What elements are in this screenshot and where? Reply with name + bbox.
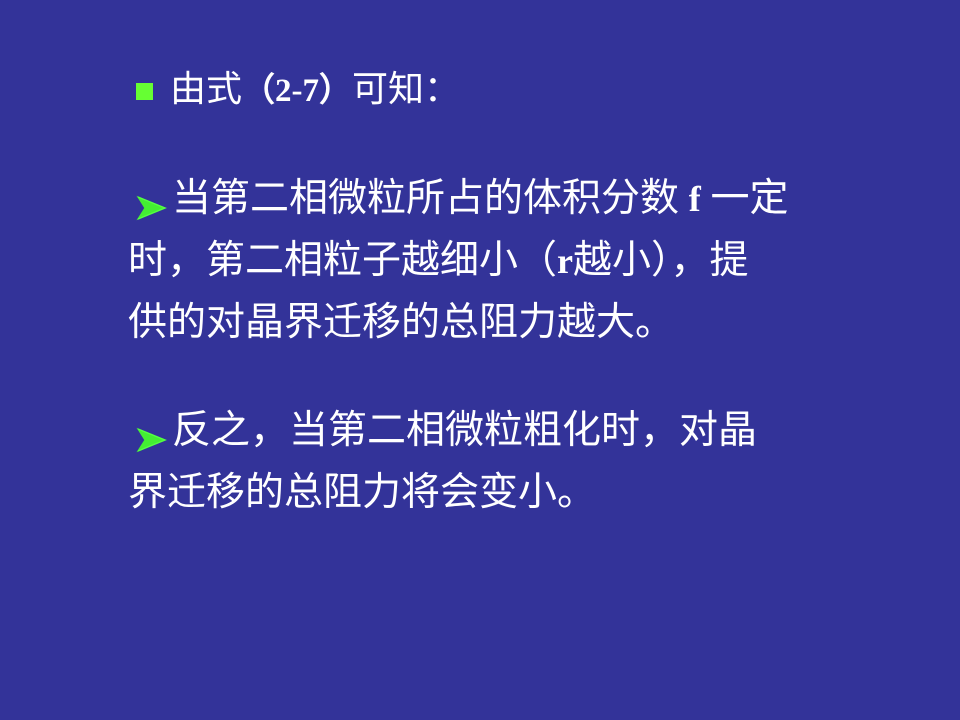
p1-l3-pre: 供的对晶界迁移的总阻力越大。 <box>128 301 674 344</box>
paragraph-2-line-1: 反之，当第二相微粒粗化时，对晶 <box>172 400 918 462</box>
heading-formula-ref: （2-7） <box>242 73 352 109</box>
paragraph-1-text: 当第二相微粒所占的体积分数 f 一定 时，第二相粒子越细小（r越小），提 供的对… <box>128 168 918 354</box>
p1-l2-pre: 时，第二相粒子越细小（ <box>128 239 557 282</box>
p1-l1-latin: f <box>689 179 701 219</box>
bullet-paragraph-1: 当第二相微粒所占的体积分数 f 一定 时，第二相粒子越细小（r越小），提 供的对… <box>128 168 918 354</box>
p1-l1-pre: 当第二相微粒所占的体积分数 <box>172 177 689 220</box>
slide-canvas: 由式（2-7）可知： 当第二相微粒所占的体积分数 f 一定 时，第二相粒子越细小… <box>0 0 960 720</box>
paragraph-1-line-2: 时，第二相粒子越细小（r越小），提 <box>128 230 918 292</box>
slide-content-body: 由式（2-7）可知： 当第二相微粒所占的体积分数 f 一定 时，第二相粒子越细小… <box>128 66 918 524</box>
p1-l1-post: 一定 <box>701 177 789 220</box>
green-square-bullet-icon <box>136 83 153 100</box>
paragraph-1-line-1: 当第二相微粒所占的体积分数 f 一定 <box>172 168 918 230</box>
heading-suffix: 可知： <box>352 69 460 109</box>
p1-l2-latin: r <box>557 241 573 281</box>
p2-l2-pre: 界迁移的总阻力将会变小。 <box>128 471 596 514</box>
heading-line: 由式（2-7）可知： <box>128 66 918 114</box>
paragraph-1-line-3: 供的对晶界迁移的总阻力越大。 <box>128 292 918 354</box>
paragraph-2-line-2: 界迁移的总阻力将会变小。 <box>128 462 918 524</box>
heading-prefix: 由式 <box>170 69 242 109</box>
bullet-paragraph-2: 反之，当第二相微粒粗化时，对晶 界迁移的总阻力将会变小。 <box>128 400 918 524</box>
paragraph-2-text: 反之，当第二相微粒粗化时，对晶 界迁移的总阻力将会变小。 <box>128 400 918 524</box>
p1-l2-post: 越小），提 <box>573 239 749 282</box>
p2-l1-pre: 反之，当第二相微粒粗化时，对晶 <box>172 409 757 452</box>
